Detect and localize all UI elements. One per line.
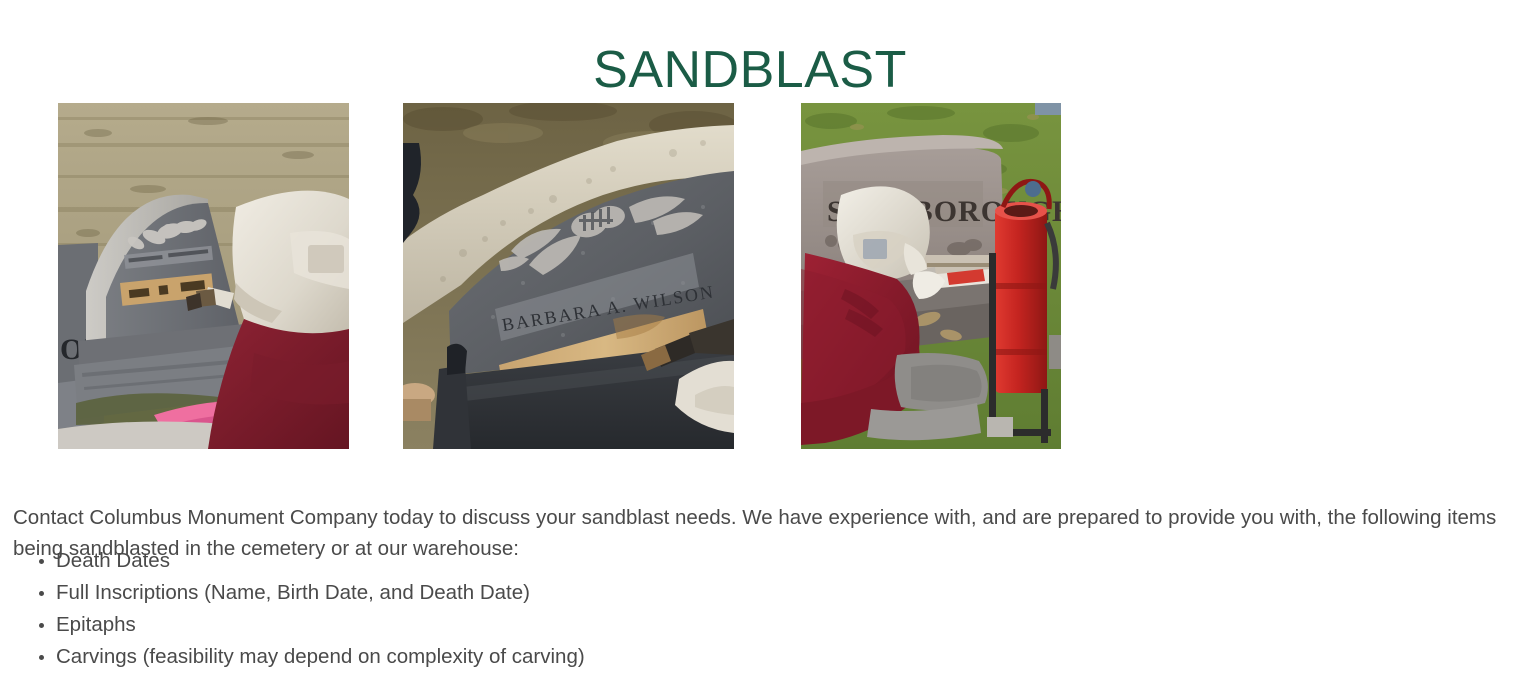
sandblasting-with-pot-illustration: SCARBOROUGH bbox=[801, 103, 1061, 449]
list-item-label: Carvings (feasibility may depend on comp… bbox=[56, 645, 585, 668]
gallery-image-2[interactable]: BARBARA A. WILSON JAN. 9, 2018 bbox=[403, 103, 734, 449]
bullet-dot-icon bbox=[39, 559, 44, 564]
bullet-dot-icon bbox=[39, 591, 44, 596]
list-item: Death Dates bbox=[13, 545, 585, 577]
list-item: Epitaphs bbox=[13, 609, 585, 641]
list-item-label: Epitaphs bbox=[56, 613, 136, 636]
list-item-label: Death Dates bbox=[56, 549, 170, 572]
bullet-dot-icon bbox=[39, 623, 44, 628]
list-item: Full Inscriptions (Name, Birth Date, and… bbox=[13, 577, 585, 609]
list-item: Carvings (feasibility may depend on comp… bbox=[13, 641, 585, 673]
gallery-image-3[interactable]: SCARBOROUGH bbox=[801, 103, 1061, 449]
photo-gallery: ON bbox=[58, 103, 1068, 449]
headstone-inscription-closeup-illustration: BARBARA A. WILSON JAN. 9, 2018 bbox=[403, 103, 734, 449]
gallery-image-1[interactable]: ON bbox=[58, 103, 349, 449]
page-title: SANDBLAST bbox=[0, 39, 1500, 101]
sandblast-services-list: Death Dates Full Inscriptions (Name, Bir… bbox=[13, 545, 585, 673]
bullet-dot-icon bbox=[39, 655, 44, 660]
list-item-label: Full Inscriptions (Name, Birth Date, and… bbox=[56, 581, 530, 604]
sandblasting-side-view-illustration: ON bbox=[58, 103, 349, 449]
sandblast-page: SANDBLAST bbox=[0, 0, 1533, 700]
